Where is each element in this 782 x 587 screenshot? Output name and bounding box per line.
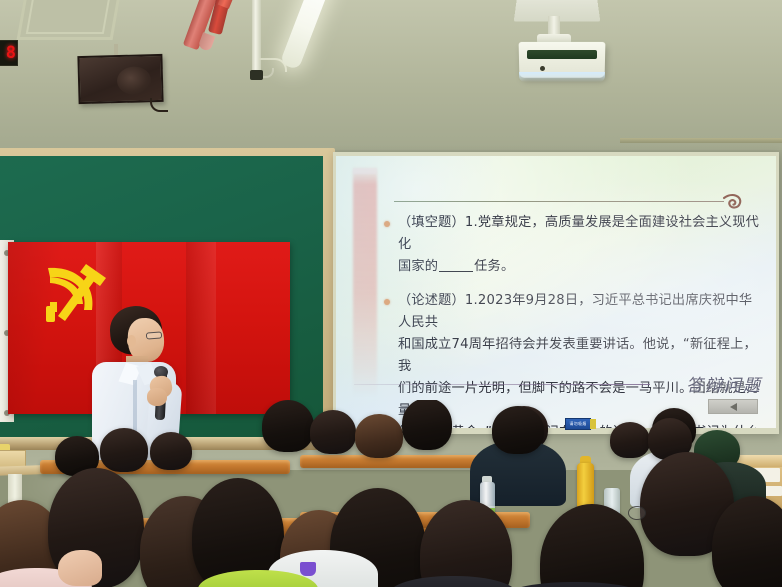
bullet-1-prefix: （填空题）1.: [398, 215, 478, 230]
bullet-1-line2a: 国家的: [398, 259, 438, 274]
seated-audience: [0, 400, 782, 587]
wall-trim: [620, 138, 782, 143]
audience-head: [150, 432, 192, 470]
bullet-dot-icon: [384, 221, 390, 227]
bullet-dot-icon: [384, 299, 390, 305]
fill-in-blank: [439, 271, 473, 272]
bullet-1-line2b: 任务。: [474, 259, 514, 274]
slide-pink-band-cap: [353, 168, 377, 174]
audience-head: [100, 428, 148, 472]
presentation-slide[interactable]: （填空题）1.党章规定，高质量发展是全面建设社会主义现代化 国家的任务。 （论述…: [336, 156, 776, 428]
presenter-ear: [127, 335, 136, 347]
audience-head: [310, 410, 356, 454]
projector-lens-strip: [527, 50, 597, 59]
flag-fold-secondary: [186, 242, 216, 414]
slide-top-rule: [394, 201, 724, 202]
led-clock-display: 8: [0, 40, 18, 66]
drink-bottle-cap-icon: [580, 456, 591, 463]
bullet-2-line2: 和国成立74周年招待会并发表重要讲话。他说，“新征程上，我: [398, 337, 757, 374]
audience-head: [610, 422, 650, 458]
swirl-decoration-icon: [722, 192, 742, 212]
bullet-2-prefix: （论述题）1.: [398, 293, 478, 308]
led-clock-value: 8: [6, 45, 16, 62]
slide-bullet-1: （填空题）1.党章规定，高质量发展是全面建设社会主义现代化 国家的任务。: [384, 212, 762, 278]
ceiling-access-panel-inner: [26, 0, 112, 34]
audience-head: [262, 400, 314, 452]
projector-indicator-icon: [540, 66, 545, 71]
audience-head: [492, 406, 544, 454]
slide-corner-title: 答辩问题: [686, 371, 762, 396]
audience-head: [355, 414, 403, 458]
audience-hand: [58, 550, 102, 586]
jacket-logo-icon: [300, 562, 316, 576]
wall-speaker: [77, 54, 163, 104]
slide-bottom-rule: [354, 384, 650, 385]
slide-bullet-1-text: （填空题）1.党章规定，高质量发展是全面建设社会主义现代化 国家的任务。: [398, 212, 762, 278]
sprinkler-head-icon: [250, 70, 263, 80]
presenter-glasses-icon: [146, 331, 162, 339]
audience-head: [402, 400, 452, 450]
projector-light-glow: [519, 72, 605, 82]
classroom-scene: 8: [0, 0, 782, 587]
hammer-and-sickle-icon: [38, 258, 112, 328]
audience-glasses-icon: [628, 506, 646, 520]
slide-pink-band: [353, 166, 377, 396]
